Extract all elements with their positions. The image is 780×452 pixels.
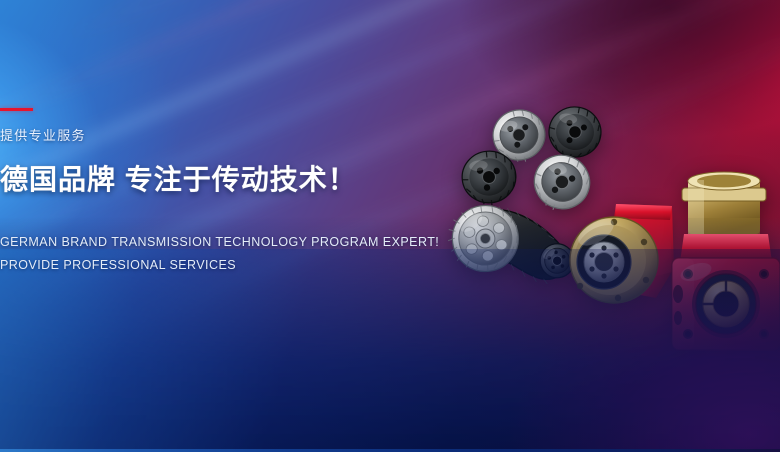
timing-pulley-silver-mid [530, 152, 594, 212]
banner-headline: 德国品牌 专注于传动技术！ [0, 164, 420, 195]
banner-subcopy-line-2: PROVIDE PROFESSIONAL SERVICES [0, 254, 420, 277]
accent-rule [0, 108, 33, 111]
timing-pulley-dark-left [458, 148, 520, 206]
timing-pulley-dark-top [545, 104, 605, 160]
timing-belt-drive-assembly [444, 196, 594, 314]
background-bottom-blue-wash [0, 249, 780, 452]
banner-copy: 提供专业服务 德国品牌 专注于传动技术！ GERMAN BRAND TRANSM… [0, 108, 420, 278]
banner-eyebrow: 提供专业服务 [0, 129, 420, 142]
banner-subcopy-line-1: GERMAN BRAND TRANSMISSION TECHNOLOGY PRO… [0, 231, 420, 254]
right-angle-gearbox-right [662, 166, 780, 356]
timing-pulley-silver-top [489, 107, 549, 163]
right-angle-gearbox-left [560, 186, 700, 344]
banner-subcopy: GERMAN BRAND TRANSMISSION TECHNOLOGY PRO… [0, 231, 420, 277]
promo-banner: 提供专业服务 德国品牌 专注于传动技术！ GERMAN BRAND TRANSM… [0, 0, 780, 452]
